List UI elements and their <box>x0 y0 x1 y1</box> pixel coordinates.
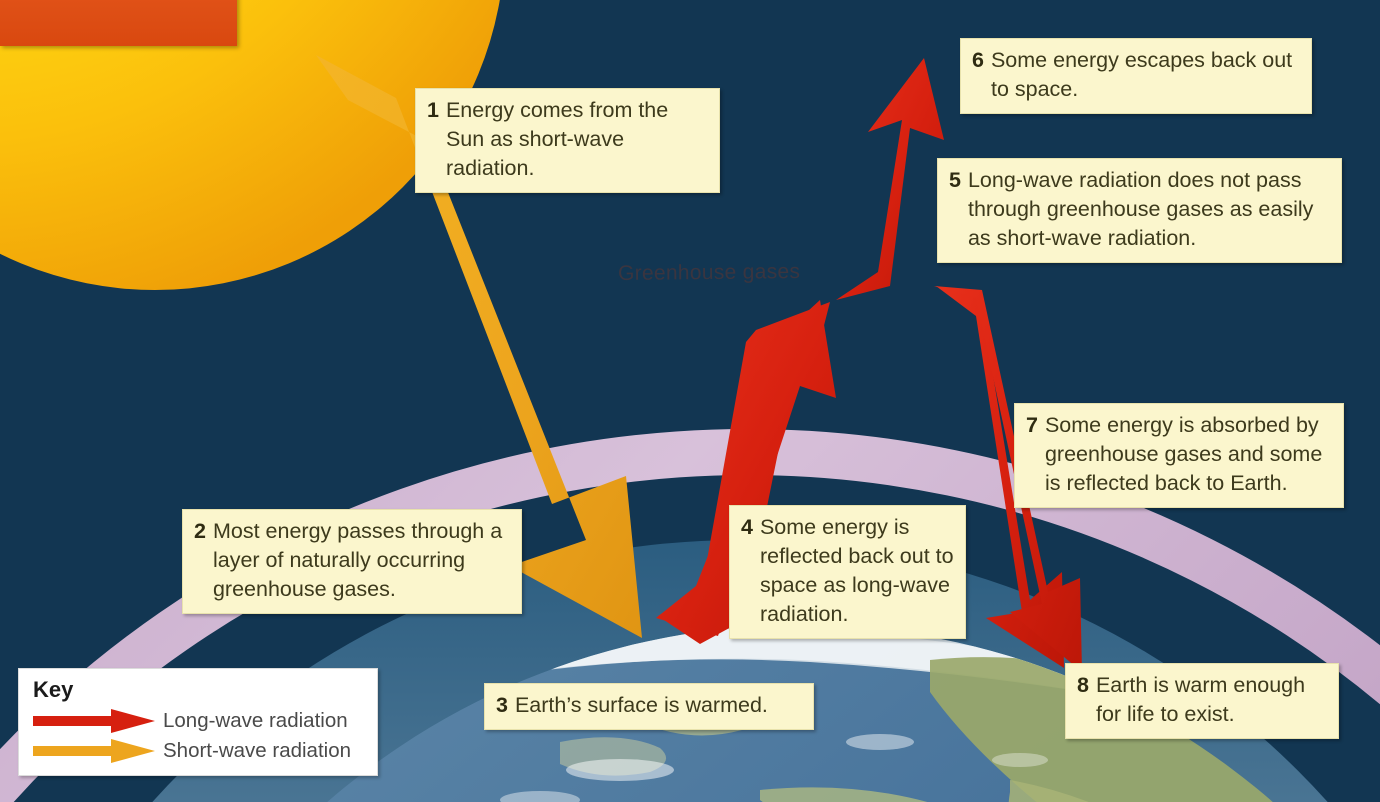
callout-2-number: 2 <box>194 517 206 546</box>
callout-6: 6 Some energy escapes back out to space. <box>960 38 1312 114</box>
callout-3: 3 Earth’s surface is warmed. <box>484 683 814 730</box>
key-entry-short-wave: Short-wave radiation <box>33 736 365 766</box>
callout-4: 4 Some energy is reflected back out to s… <box>729 505 966 639</box>
arrow-right-icon <box>33 708 155 734</box>
arrow-right-icon <box>33 738 155 764</box>
callout-2-text: Most energy passes through a layer of na… <box>213 517 510 604</box>
callout-8-text: Earth is warm enough for life to exist. <box>1096 671 1327 729</box>
callout-8-number: 8 <box>1077 671 1089 700</box>
greenhouse-effect-diagram: Greenhouse gases 1 Energy comes from the… <box>0 0 1380 802</box>
callout-1-number: 1 <box>427 96 439 125</box>
callout-5-text: Long-wave radiation does not pass throug… <box>968 166 1330 253</box>
callout-5: 5 Long-wave radiation does not pass thro… <box>937 158 1342 263</box>
callout-4-number: 4 <box>741 513 753 542</box>
callout-7-text: Some energy is absorbed by greenhouse ga… <box>1045 411 1332 498</box>
callout-8: 8 Earth is warm enough for life to exist… <box>1065 663 1339 739</box>
key-entry-long-wave: Long-wave radiation <box>33 706 365 736</box>
callout-1: 1 Energy comes from the Sun as short-wav… <box>415 88 720 193</box>
callout-4-text: Some energy is reflected back out to spa… <box>760 513 954 629</box>
callout-6-number: 6 <box>972 46 984 75</box>
key-legend: Key Long-wave radiation Short-wave radia… <box>18 668 378 776</box>
key-entry-long-wave-label: Long-wave radiation <box>163 709 348 733</box>
callout-7: 7 Some energy is absorbed by greenhouse … <box>1014 403 1344 508</box>
key-title: Key <box>33 677 365 703</box>
callout-2: 2 Most energy passes through a layer of … <box>182 509 522 614</box>
greenhouse-gases-label: Greenhouse gases <box>618 260 801 286</box>
key-entry-short-wave-label: Short-wave radiation <box>163 739 351 763</box>
callout-3-text: Earth’s surface is warmed. <box>515 691 802 720</box>
callout-5-number: 5 <box>949 166 961 195</box>
callout-3-number: 3 <box>496 691 508 720</box>
callout-7-number: 7 <box>1026 411 1038 440</box>
section-banner <box>0 0 237 46</box>
callout-1-text: Energy comes from the Sun as short-wave … <box>446 96 708 183</box>
callout-6-text: Some energy escapes back out to space. <box>991 46 1300 104</box>
